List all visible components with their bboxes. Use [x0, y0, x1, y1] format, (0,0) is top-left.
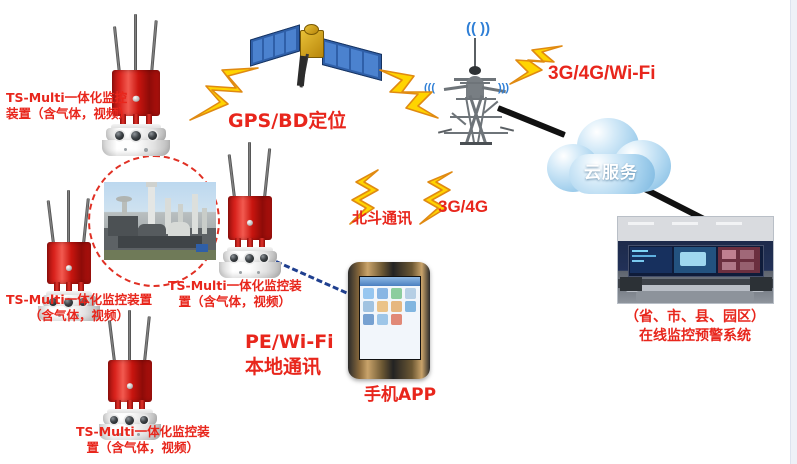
device-mid-right-label: TS-Multi一体化监控装 置（含气体，视频） — [168, 278, 302, 309]
device-mid-right-label-line1: TS-Multi一体化监控装 — [168, 278, 302, 293]
device-top-left-label-line1: TS-Multi一体化监控 — [6, 90, 127, 105]
device-bottom-label-line2: 置（含气体，视频） — [87, 440, 200, 455]
phone-app-grid — [363, 288, 417, 325]
device-mid-left-label-line1: TS-Multi一体化监控装置 — [6, 292, 152, 307]
handheld-app-device[interactable] — [348, 262, 430, 379]
app-icon-7 — [391, 301, 402, 312]
label-3g4g: 3G/4G — [438, 196, 488, 217]
cell-tower-icon: (( )) ((( ))) — [430, 20, 522, 155]
label-3g4g-wifi: 3G/4G/Wi-Fi — [548, 62, 656, 86]
label-local-comm: 本地通讯 — [245, 356, 321, 378]
device-bottom-label-line1: TS-Multi一体化监控装 — [76, 424, 210, 439]
control-room-label: （省、市、县、园区） 在线监控预警系统 — [610, 308, 780, 346]
device-bottom-label: TS-Multi一体化监控装 置（含气体，视频） — [76, 424, 210, 455]
app-icon-5 — [363, 301, 374, 312]
device-mid-left-label-line2: （含气体，视频） — [29, 308, 129, 323]
app-icon-2 — [377, 288, 388, 299]
device-top-left-label-line2: 装置（含气体，视频） — [6, 106, 131, 121]
refinery-photo — [104, 182, 216, 260]
satellite-icon — [250, 12, 380, 104]
app-icon-3 — [391, 288, 402, 299]
control-room-label-line2: 在线监控预警系统 — [639, 328, 751, 344]
bolt-satellite-to-tower — [378, 68, 440, 120]
signal-wave-top-icon: (( )) — [466, 20, 490, 37]
control-room-photo — [617, 216, 774, 304]
cloud-service-icon: 云服务 — [547, 118, 675, 198]
diagram-canvas: (( )) ((( ))) 云服务 — [0, 0, 797, 464]
right-edge-border — [790, 0, 797, 464]
app-icon-4 — [405, 288, 416, 299]
phone-screen — [359, 276, 421, 360]
app-icon-9 — [363, 314, 374, 325]
phone-status-bar — [360, 277, 420, 286]
app-icon-11 — [391, 314, 402, 325]
label-gps-bd: GPS/BD定位 — [228, 110, 346, 134]
app-icon-6 — [377, 301, 388, 312]
phone-app-label: 手机APP — [364, 385, 436, 406]
device-mid-right-label-line2: 置（含气体，视频） — [179, 294, 292, 309]
app-icon-8 — [405, 301, 416, 312]
control-room-label-line1: （省、市、县、园区） — [625, 309, 765, 325]
app-icon-10 — [377, 314, 388, 325]
label-beidou: 北斗通讯 — [352, 209, 412, 228]
label-pe-wifi: PE/Wi-Fi — [245, 331, 334, 353]
cloud-service-label: 云服务 — [547, 158, 675, 183]
app-icon-1 — [363, 288, 374, 299]
label-pe-wifi-local: PE/Wi-Fi 本地通讯 — [245, 330, 334, 379]
device-top-left-label: TS-Multi一体化监控 装置（含气体，视频） — [6, 90, 131, 121]
